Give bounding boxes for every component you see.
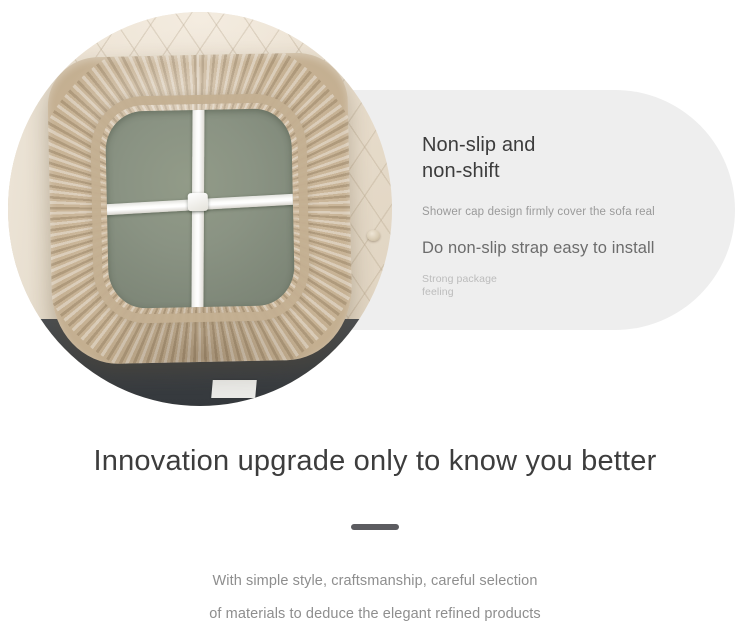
strap-buckle bbox=[188, 193, 209, 211]
feature-text-block: Non-slip and non-shift Shower cap design… bbox=[422, 132, 712, 298]
feature-subtitle: Shower cap design firmly cover the sofa … bbox=[422, 204, 712, 220]
feature-heading: Non-slip and non-shift bbox=[422, 132, 712, 184]
green-cushion-panel bbox=[105, 109, 295, 310]
product-photo-scene bbox=[8, 12, 392, 406]
section-headline: Innovation upgrade only to know you bett… bbox=[0, 443, 750, 479]
section-divider bbox=[351, 524, 399, 530]
tuft-button bbox=[362, 87, 375, 98]
seat-cover-group bbox=[47, 52, 353, 366]
product-tag-label bbox=[211, 380, 257, 398]
section-body-copy: With simple style, craftsmanship, carefu… bbox=[0, 565, 750, 631]
feature-note: Strong package feeling bbox=[422, 273, 712, 298]
feature-secondary-line: Do non-slip strap easy to install bbox=[422, 237, 712, 259]
product-photo-circle bbox=[8, 12, 392, 406]
